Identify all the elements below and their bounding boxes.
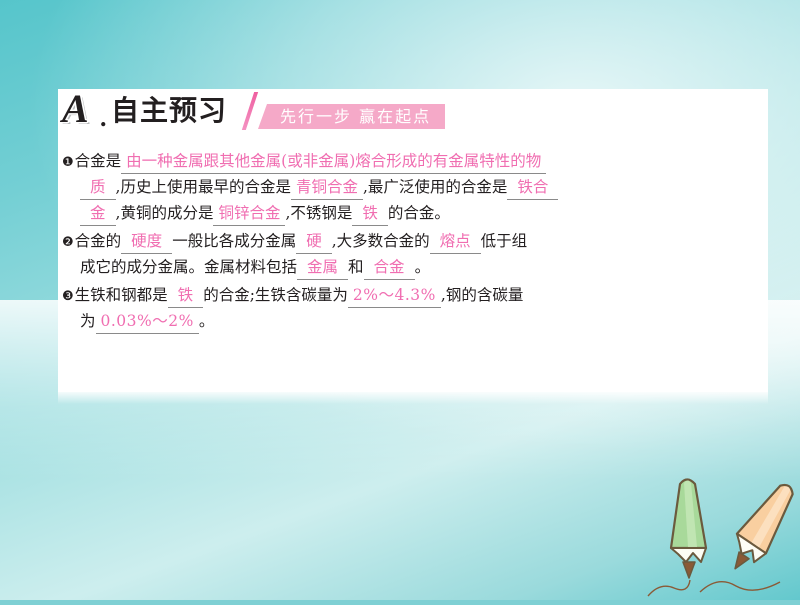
answer-blank[interactable]: 青铜合金 bbox=[291, 176, 363, 200]
question-text: 合金是 bbox=[75, 152, 122, 170]
question-text: 的合金。 bbox=[388, 204, 450, 222]
tagline-text: 先行一步 赢在起点 bbox=[280, 107, 431, 126]
question-text: 一般比各成分金属 bbox=[172, 232, 296, 250]
answer-blank[interactable]: 硬度 bbox=[121, 230, 172, 254]
question-text: 低于组 bbox=[481, 232, 528, 250]
answer-blank[interactable]: 2%～4.3% bbox=[348, 284, 441, 308]
question-line: 成它的成分金属。金属材料包括金属和合金。 bbox=[62, 254, 768, 280]
question-text: 为 bbox=[80, 312, 96, 330]
answer-blank[interactable]: 0.03%～2% bbox=[96, 310, 199, 334]
question-line: ❶合金是由一种金属跟其他金属(或非金属)熔合形成的有金属特性的物 bbox=[62, 148, 768, 174]
question-text: ,最广泛使用的合金是 bbox=[363, 178, 507, 196]
answer-blank[interactable]: 铁合 bbox=[507, 176, 558, 200]
pencil-decoration-group bbox=[640, 470, 800, 600]
answer-blank[interactable]: 金属 bbox=[297, 256, 348, 280]
answer-blank[interactable]: 铜锌合金 bbox=[213, 202, 285, 226]
question-text: 合金的 bbox=[75, 232, 122, 250]
question-text: ,不锈钢是 bbox=[285, 204, 352, 222]
answer-blank[interactable]: 质 bbox=[80, 176, 116, 200]
green-pencil-icon bbox=[671, 480, 706, 579]
squiggle-right bbox=[700, 582, 780, 592]
answer-blank[interactable]: 合金 bbox=[364, 256, 415, 280]
answer-blank[interactable]: 硬 bbox=[296, 230, 332, 254]
section-letter: A bbox=[62, 89, 88, 129]
question-line: 金,黄铜的成分是铜锌合金,不锈钢是铁的合金。 bbox=[62, 200, 768, 226]
section-header: A . 自主预习 先行一步 赢在起点 bbox=[62, 92, 762, 134]
page-title: 自主预习 bbox=[111, 95, 227, 127]
question-text: 生铁和钢都是 bbox=[75, 286, 168, 304]
question-text: 成它的成分金属。金属材料包括 bbox=[80, 258, 297, 276]
question-bullet: ❸ bbox=[62, 289, 75, 304]
tagline-banner: 先行一步 赢在起点 bbox=[258, 104, 445, 129]
question-line: 质,历史上使用最早的合金是青铜合金,最广泛使用的合金是铁合 bbox=[62, 174, 768, 200]
answer-blank[interactable]: 由一种金属跟其他金属(或非金属)熔合形成的有金属特性的物 bbox=[121, 150, 546, 174]
answer-blank[interactable]: 铁 bbox=[352, 202, 388, 226]
question-text: ,历史上使用最早的合金是 bbox=[116, 178, 291, 196]
answer-blank[interactable]: 铁 bbox=[168, 284, 204, 308]
pink-slash-divider bbox=[242, 92, 258, 130]
question-line: 为0.03%～2%。 bbox=[62, 308, 768, 334]
answer-blank[interactable]: 熔点 bbox=[430, 230, 481, 254]
question-item: ❷合金的硬度一般比各成分金属硬,大多数合金的熔点低于组成它的成分金属。金属材料包… bbox=[62, 228, 768, 280]
answer-blank[interactable]: 金 bbox=[80, 202, 116, 226]
question-text: 。 bbox=[415, 258, 431, 276]
pencils-illustration bbox=[640, 470, 800, 600]
squiggle-left bbox=[648, 580, 690, 596]
question-line: ❸生铁和钢都是铁的合金;生铁含碳量为2%～4.3%,钢的含碳量 bbox=[62, 282, 768, 308]
orange-pencil-icon bbox=[720, 477, 800, 578]
question-text: 和 bbox=[348, 258, 364, 276]
question-text: ,大多数合金的 bbox=[332, 232, 430, 250]
question-item: ❶合金是由一种金属跟其他金属(或非金属)熔合形成的有金属特性的物质,历史上使用最… bbox=[62, 148, 768, 226]
question-text: 。 bbox=[199, 312, 215, 330]
content-card-fade bbox=[58, 382, 768, 404]
question-bullet: ❶ bbox=[62, 155, 75, 170]
question-text: 的合金;生铁含碳量为 bbox=[203, 286, 348, 304]
question-list: ❶合金是由一种金属跟其他金属(或非金属)熔合形成的有金属特性的物质,历史上使用最… bbox=[62, 148, 768, 336]
section-letter-dot: . bbox=[100, 108, 107, 128]
question-line: ❷合金的硬度一般比各成分金属硬,大多数合金的熔点低于组 bbox=[62, 228, 768, 254]
question-text: ,钢的含碳量 bbox=[441, 286, 523, 304]
question-item: ❸生铁和钢都是铁的合金;生铁含碳量为2%～4.3%,钢的含碳量为0.03%～2%… bbox=[62, 282, 768, 334]
question-text: ,黄铜的成分是 bbox=[116, 204, 214, 222]
question-bullet: ❷ bbox=[62, 235, 75, 250]
